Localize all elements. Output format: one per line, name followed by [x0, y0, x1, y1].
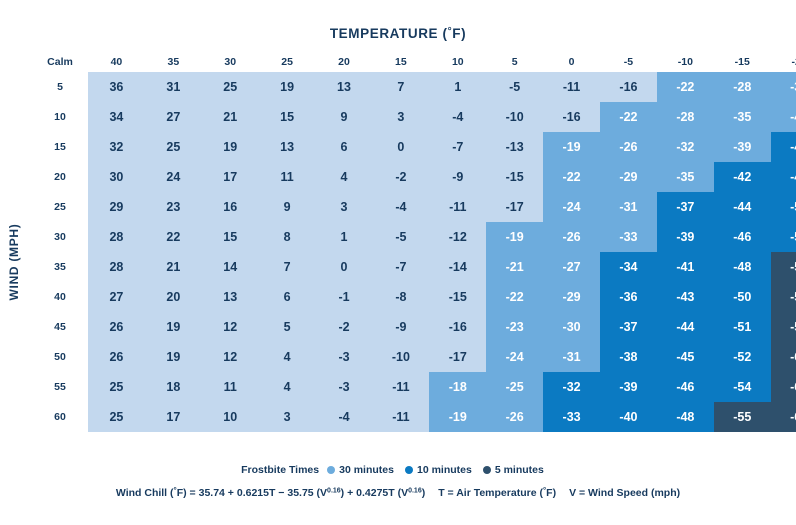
heatmap-cell: 25 — [88, 402, 145, 432]
heatmap-cell: -4 — [429, 102, 486, 132]
heatmap-cell: 19 — [145, 342, 202, 372]
heatmap-cell: -8 — [372, 282, 429, 312]
column-header: 40 — [88, 52, 145, 72]
formula-mid: ) + 0.4275T (V — [341, 487, 408, 499]
legend-t-tail: F) — [546, 487, 556, 499]
heatmap-cell: 15 — [259, 102, 316, 132]
heatmap-cell: 16 — [202, 192, 259, 222]
heatmap-cell: -7 — [429, 132, 486, 162]
heatmap-cell: -23 — [486, 312, 543, 342]
heatmap-cell: -32 — [543, 372, 600, 402]
heatmap-cell: 20 — [145, 282, 202, 312]
heatmap-cell: -33 — [543, 402, 600, 432]
heatmap-cell: 3 — [316, 192, 373, 222]
heatmap-cell: 7 — [372, 72, 429, 102]
heatmap-cell: -4 — [316, 402, 373, 432]
heatmap-cell: -46 — [657, 372, 714, 402]
heatmap-cell: -62 — [771, 402, 796, 432]
heatmap-cell: -7 — [372, 252, 429, 282]
heatmap-cell: -11 — [372, 402, 429, 432]
heatmap-cell: -14 — [429, 252, 486, 282]
column-header: 10 — [429, 52, 486, 72]
column-header-row: Calm 4035302520151050-5-10-15-20-25-30-3… — [32, 52, 796, 72]
heatmap-cell: -15 — [429, 282, 486, 312]
row-header: 10 — [32, 102, 88, 132]
heatmap-cell: -57 — [771, 282, 796, 312]
heatmap-cell: 9 — [316, 102, 373, 132]
heatmap-cell: -30 — [543, 312, 600, 342]
legend-item: 30 minutes — [327, 464, 394, 476]
heatmap-cell: -42 — [714, 162, 771, 192]
heatmap-cell: -19 — [486, 222, 543, 252]
heatmap-cell: 24 — [145, 162, 202, 192]
heatmap-cell: -61 — [771, 372, 796, 402]
heatmap-cell: -3 — [316, 342, 373, 372]
page-title: TEMPERATURE (°F) — [0, 26, 796, 41]
heatmap-cell: -9 — [372, 312, 429, 342]
heatmap-cell: 0 — [316, 252, 373, 282]
heatmap-cell: 11 — [259, 162, 316, 192]
heatmap-cell: 15 — [202, 222, 259, 252]
heatmap-cell: -33 — [600, 222, 657, 252]
heatmap-cell: 34 — [88, 102, 145, 132]
column-header: -5 — [600, 52, 657, 72]
heatmap-cell: -10 — [372, 342, 429, 372]
heatmap-cell: -12 — [429, 222, 486, 252]
heatmap-cell: 5 — [259, 312, 316, 342]
heatmap-cell: -26 — [600, 132, 657, 162]
heatmap-cell: 1 — [429, 72, 486, 102]
table-row: 20302417114-2-9-15-22-29-35-42-48-55-61-… — [32, 162, 796, 192]
heatmap-cell: 13 — [202, 282, 259, 312]
heatmap-cell: -44 — [714, 192, 771, 222]
y-axis-label: WIND (MPH) — [7, 224, 21, 301]
heatmap-cell: -51 — [771, 192, 796, 222]
heatmap-cell: -26 — [543, 222, 600, 252]
heatmap-cell: -1 — [316, 282, 373, 312]
heatmap-cell: -16 — [600, 72, 657, 102]
heatmap-cell: 13 — [316, 72, 373, 102]
heatmap-cell: -48 — [714, 252, 771, 282]
row-header: 50 — [32, 342, 88, 372]
heatmap-cell: -32 — [657, 132, 714, 162]
heatmap-cell: -4 — [372, 192, 429, 222]
heatmap-cell: 4 — [259, 372, 316, 402]
heatmap-cell: -22 — [486, 282, 543, 312]
heatmap-cell: 32 — [88, 132, 145, 162]
column-header: 20 — [316, 52, 373, 72]
heatmap-cell: -19 — [429, 402, 486, 432]
column-header: 30 — [202, 52, 259, 72]
heatmap-cell: 9 — [259, 192, 316, 222]
heatmap-cell: -9 — [429, 162, 486, 192]
table-row: 5363125191371-5-11-16-22-28-34-40-46-52-… — [32, 72, 796, 102]
formula-exponent-2: 0.16 — [408, 488, 422, 495]
heatmap-cell: 11 — [202, 372, 259, 402]
heatmap-cell: -27 — [543, 252, 600, 282]
table-row: 502619124-3-10-17-24-31-38-45-52-60-67-7… — [32, 342, 796, 372]
heatmap-cell: -3 — [316, 372, 373, 402]
heatmap-cell: -43 — [657, 282, 714, 312]
heatmap-cell: -35 — [714, 102, 771, 132]
column-header: 15 — [372, 52, 429, 72]
table-row: 402720136-1-8-15-22-29-36-43-50-57-64-71… — [32, 282, 796, 312]
table-row: 153225191360-7-13-19-26-32-39-45-51-58-6… — [32, 132, 796, 162]
heatmap-cell: -16 — [543, 102, 600, 132]
formula-line: Wind Chill (°F) = 35.74 + 0.6215T − 35.7… — [0, 486, 796, 499]
column-header: 35 — [145, 52, 202, 72]
heatmap-cell: -5 — [372, 222, 429, 252]
heatmap-cell: 28 — [88, 222, 145, 252]
row-header: 15 — [32, 132, 88, 162]
table-row: 452619125-2-9-16-23-30-37-44-51-58-65-72… — [32, 312, 796, 342]
heatmap-cell: -37 — [600, 312, 657, 342]
heatmap-cell: 3 — [372, 102, 429, 132]
heatmap-cell: -50 — [714, 282, 771, 312]
heatmap-cell: -11 — [543, 72, 600, 102]
legend-color-dot — [483, 466, 491, 474]
heatmap-cell: -19 — [543, 132, 600, 162]
heatmap-cell: -39 — [600, 372, 657, 402]
heatmap-cell: -26 — [486, 402, 543, 432]
column-header: -20 — [771, 52, 796, 72]
heatmap-cell: -48 — [771, 162, 796, 192]
row-header: 55 — [32, 372, 88, 402]
heatmap-cell: 19 — [145, 312, 202, 342]
wind-chill-table: Calm 4035302520151050-5-10-15-20-25-30-3… — [32, 52, 796, 432]
heatmap-cell: -41 — [657, 252, 714, 282]
heatmap-cell: 14 — [202, 252, 259, 282]
row-header: 35 — [32, 252, 88, 282]
heatmap-cell: -55 — [714, 402, 771, 432]
heatmap-cell: -16 — [429, 312, 486, 342]
heatmap-cell: -17 — [486, 192, 543, 222]
page-title-tail: F) — [452, 26, 466, 41]
heatmap-cell: 4 — [316, 162, 373, 192]
heatmap-cell: -38 — [600, 342, 657, 372]
heatmap-cell: -36 — [600, 282, 657, 312]
legend-color-dot — [405, 466, 413, 474]
table-row: 103427211593-4-10-16-22-28-35-41-47-53-5… — [32, 102, 796, 132]
heatmap-cell: 26 — [88, 342, 145, 372]
heatmap-cell: -34 — [771, 72, 796, 102]
heatmap-cell: 19 — [259, 72, 316, 102]
column-header: -10 — [657, 52, 714, 72]
heatmap-cell: -53 — [771, 222, 796, 252]
heatmap-cell: 13 — [259, 132, 316, 162]
heatmap-cell: 27 — [145, 102, 202, 132]
heatmap-cell: -39 — [714, 132, 771, 162]
heatmap-cell: 10 — [202, 402, 259, 432]
heatmap-grid: Calm 4035302520151050-5-10-15-20-25-30-3… — [32, 52, 772, 432]
heatmap-cell: -37 — [657, 192, 714, 222]
heatmap-cell: 26 — [88, 312, 145, 342]
heatmap-cell: -24 — [486, 342, 543, 372]
heatmap-cell: 8 — [259, 222, 316, 252]
heatmap-cell: -58 — [771, 312, 796, 342]
row-header: 60 — [32, 402, 88, 432]
heatmap-cell: -54 — [714, 372, 771, 402]
table-head: Calm 4035302520151050-5-10-15-20-25-30-3… — [32, 52, 796, 72]
legend: Frostbite Times30 minutes10 minutes5 min… — [0, 464, 796, 476]
heatmap-cell: -34 — [600, 252, 657, 282]
heatmap-cell: 25 — [88, 372, 145, 402]
heatmap-cell: 19 — [202, 132, 259, 162]
legend-v: V = Wind Speed (mph) — [569, 487, 680, 499]
heatmap-cell: 1 — [316, 222, 373, 252]
heatmap-cell: -40 — [600, 402, 657, 432]
heatmap-cell: -52 — [714, 342, 771, 372]
legend-item-label: 10 minutes — [417, 464, 472, 476]
heatmap-cell: -45 — [771, 132, 796, 162]
heatmap-cell: -28 — [714, 72, 771, 102]
heatmap-cell: 7 — [259, 252, 316, 282]
wind-chill-chart: TEMPERATURE (°F) WIND (MPH) Calm 4035302… — [0, 0, 796, 525]
heatmap-cell: 23 — [145, 192, 202, 222]
legend-t-lead: T = Air Temperature ( — [438, 487, 543, 499]
legend-title: Frostbite Times — [241, 464, 319, 476]
heatmap-cell: -22 — [657, 72, 714, 102]
row-header: 5 — [32, 72, 88, 102]
heatmap-cell: 6 — [259, 282, 316, 312]
row-header: 40 — [32, 282, 88, 312]
table-row: 552518114-3-11-18-25-32-39-46-54-61-68-7… — [32, 372, 796, 402]
heatmap-cell: -22 — [543, 162, 600, 192]
heatmap-cell: -17 — [429, 342, 486, 372]
heatmap-cell: -46 — [714, 222, 771, 252]
row-header: 25 — [32, 192, 88, 222]
heatmap-cell: 17 — [145, 402, 202, 432]
heatmap-cell: 36 — [88, 72, 145, 102]
row-header: 45 — [32, 312, 88, 342]
column-header: 25 — [259, 52, 316, 72]
heatmap-cell: 12 — [202, 342, 259, 372]
formula-lead: Wind Chill ( — [116, 487, 174, 499]
heatmap-cell: -51 — [714, 312, 771, 342]
heatmap-cell: -29 — [543, 282, 600, 312]
table-row: 602517103-4-11-19-26-33-40-48-55-62-69-7… — [32, 402, 796, 432]
heatmap-cell: -31 — [543, 342, 600, 372]
heatmap-cell: 27 — [88, 282, 145, 312]
heatmap-cell: -41 — [771, 102, 796, 132]
legend-item: 5 minutes — [483, 464, 544, 476]
heatmap-cell: -15 — [486, 162, 543, 192]
legend-item-label: 5 minutes — [495, 464, 544, 476]
formula-body: F) = 35.74 + 0.6215T − 35.75 (V — [177, 487, 327, 499]
heatmap-cell: 29 — [88, 192, 145, 222]
table-row: 2529231693-4-11-17-24-31-37-44-51-58-64-… — [32, 192, 796, 222]
heatmap-cell: 25 — [145, 132, 202, 162]
heatmap-cell: -35 — [657, 162, 714, 192]
heatmap-cell: -60 — [771, 342, 796, 372]
heatmap-cell: -11 — [429, 192, 486, 222]
heatmap-cell: 28 — [88, 252, 145, 282]
heatmap-cell: -22 — [600, 102, 657, 132]
heatmap-cell: 18 — [145, 372, 202, 402]
heatmap-cell: 31 — [145, 72, 202, 102]
table-row: 3528211470-7-14-21-27-34-41-48-55-62-69-… — [32, 252, 796, 282]
table-body: 5363125191371-5-11-16-22-28-34-40-46-52-… — [32, 72, 796, 432]
heatmap-cell: -10 — [486, 102, 543, 132]
heatmap-cell: 22 — [145, 222, 202, 252]
heatmap-cell: -55 — [771, 252, 796, 282]
heatmap-cell: 21 — [145, 252, 202, 282]
heatmap-cell: -44 — [657, 312, 714, 342]
heatmap-cell: -5 — [486, 72, 543, 102]
heatmap-cell: 25 — [202, 72, 259, 102]
row-header: 30 — [32, 222, 88, 252]
heatmap-cell: 0 — [372, 132, 429, 162]
heatmap-cell: 17 — [202, 162, 259, 192]
formula-exponent-1: 0.16 — [327, 488, 341, 495]
heatmap-cell: 4 — [259, 342, 316, 372]
heatmap-cell: -2 — [316, 312, 373, 342]
heatmap-cell: -24 — [543, 192, 600, 222]
corner-label: Calm — [32, 52, 88, 72]
heatmap-cell: 3 — [259, 402, 316, 432]
heatmap-cell: 21 — [202, 102, 259, 132]
heatmap-cell: 12 — [202, 312, 259, 342]
heatmap-cell: 6 — [316, 132, 373, 162]
heatmap-cell: -21 — [486, 252, 543, 282]
row-header: 20 — [32, 162, 88, 192]
column-header: 5 — [486, 52, 543, 72]
heatmap-cell: -48 — [657, 402, 714, 432]
heatmap-cell: -2 — [372, 162, 429, 192]
formula-close: ) — [422, 487, 426, 499]
legend-item-label: 30 minutes — [339, 464, 394, 476]
table-row: 3028221581-5-12-19-26-33-39-46-53-60-67-… — [32, 222, 796, 252]
column-header: -15 — [714, 52, 771, 72]
heatmap-cell: -29 — [600, 162, 657, 192]
heatmap-cell: -13 — [486, 132, 543, 162]
heatmap-cell: -28 — [657, 102, 714, 132]
heatmap-cell: -25 — [486, 372, 543, 402]
heatmap-cell: -11 — [372, 372, 429, 402]
page-title-text: TEMPERATURE ( — [330, 26, 448, 41]
heatmap-cell: -45 — [657, 342, 714, 372]
heatmap-cell: 30 — [88, 162, 145, 192]
heatmap-cell: -31 — [600, 192, 657, 222]
heatmap-cell: -18 — [429, 372, 486, 402]
legend-item: 10 minutes — [405, 464, 472, 476]
heatmap-cell: -39 — [657, 222, 714, 252]
legend-color-dot — [327, 466, 335, 474]
column-header: 0 — [543, 52, 600, 72]
